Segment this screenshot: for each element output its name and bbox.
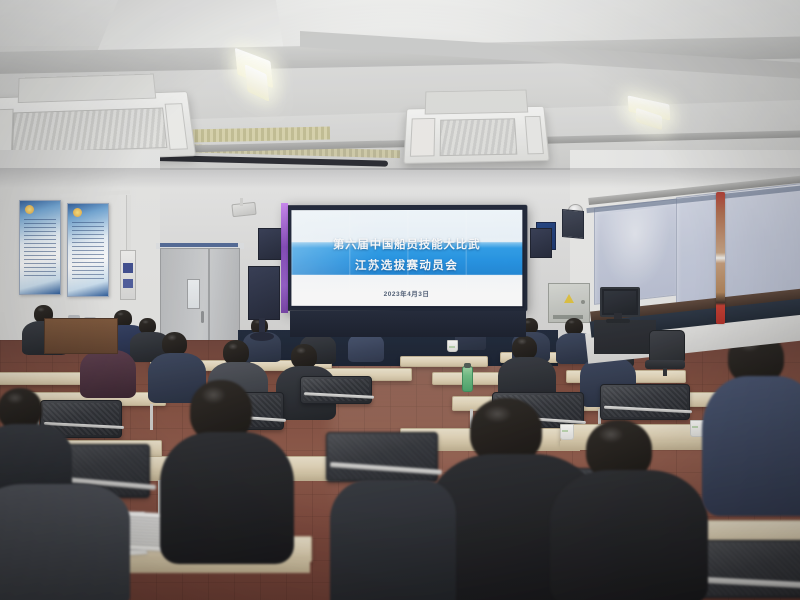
training-desk — [400, 356, 488, 367]
person-torso — [702, 376, 800, 516]
double-door[interactable] — [160, 248, 240, 342]
door-window — [187, 279, 200, 309]
attendee — [556, 420, 696, 600]
person-torso — [80, 350, 136, 398]
wall-shadow — [0, 168, 800, 188]
loudspeaker — [562, 209, 584, 239]
person-torso — [160, 432, 294, 564]
conference-chair[interactable] — [300, 376, 372, 404]
monitor-base — [606, 319, 630, 323]
ac-housing — [18, 74, 157, 103]
loudspeaker — [530, 228, 552, 258]
high-voltage-warning-icon — [564, 294, 574, 303]
ac-grille — [12, 108, 167, 154]
cabinet-lock-icon[interactable] — [581, 300, 585, 304]
ac-grille — [440, 118, 518, 156]
attendee — [166, 380, 284, 560]
person-torso — [550, 470, 708, 600]
wood-cabinet — [44, 318, 118, 354]
slide-content: 第六届中国船员技能大比武 江苏选拔赛动员会 2023年4月3日 — [291, 210, 522, 306]
ac-housing — [425, 90, 529, 115]
paper-cup — [447, 340, 458, 352]
person-torso — [0, 484, 130, 600]
door-header-band — [160, 243, 238, 247]
chair-post — [663, 368, 667, 376]
led-video-wall[interactable]: 第六届中国船员技能大比武 江苏选拔赛动员会 2023年4月3日 — [286, 205, 527, 311]
person-torso — [348, 333, 384, 362]
ac-vane — [525, 116, 544, 154]
desk-leg — [150, 404, 153, 430]
conduit-pipe — [126, 195, 131, 253]
ceiling-projector — [231, 202, 256, 217]
attendee — [712, 332, 800, 512]
poster-emblem-icon — [25, 205, 34, 214]
poster-emblem-icon — [73, 208, 82, 217]
chair-back — [649, 330, 685, 364]
chair-mesh — [603, 387, 687, 417]
conference-chair[interactable] — [600, 384, 690, 420]
screen-surface: 第六届中国船员技能大比武 江苏选拔赛动员会 2023年4月3日 — [291, 210, 522, 306]
information-poster — [67, 203, 109, 297]
speaker-base — [250, 332, 274, 341]
attendee — [330, 470, 450, 600]
ceiling-cassette-air-conditioner — [403, 106, 549, 164]
door-split — [208, 249, 210, 341]
loudspeaker — [248, 266, 280, 320]
projector-mount — [240, 198, 243, 206]
electrical-cabinet[interactable] — [548, 283, 590, 323]
panel-switch[interactable] — [123, 279, 133, 288]
slide-title-line-2: 江苏选拔赛动员会 — [355, 260, 458, 272]
door-handle[interactable] — [201, 311, 204, 323]
monitor-screen — [604, 291, 636, 313]
photo-scene: 第六届中国船员技能大比武 江苏选拔赛动员会 2023年4月3日 — [0, 0, 800, 600]
person-torso — [330, 480, 456, 600]
panel-switch[interactable] — [123, 263, 133, 273]
office-chair[interactable] — [645, 330, 685, 376]
slide-title-line-1: 第六届中国船员技能大比武 — [333, 240, 481, 252]
water-bottle — [462, 366, 473, 392]
screen-edge-light — [281, 203, 288, 313]
loudspeaker — [258, 228, 282, 260]
red-window-pole — [716, 192, 725, 324]
poster-text-block — [24, 219, 56, 278]
conference-chair[interactable] — [700, 540, 800, 598]
ac-vane — [165, 103, 188, 150]
ac-vane — [410, 118, 435, 157]
slide-date: 2023年4月3日 — [384, 288, 430, 298]
information-poster — [19, 200, 61, 295]
poster-text-block — [72, 222, 104, 280]
screen-base-panel — [290, 311, 526, 337]
attendee — [0, 470, 120, 600]
wall-control-panel[interactable] — [120, 250, 136, 300]
bottle-cap — [464, 363, 471, 368]
